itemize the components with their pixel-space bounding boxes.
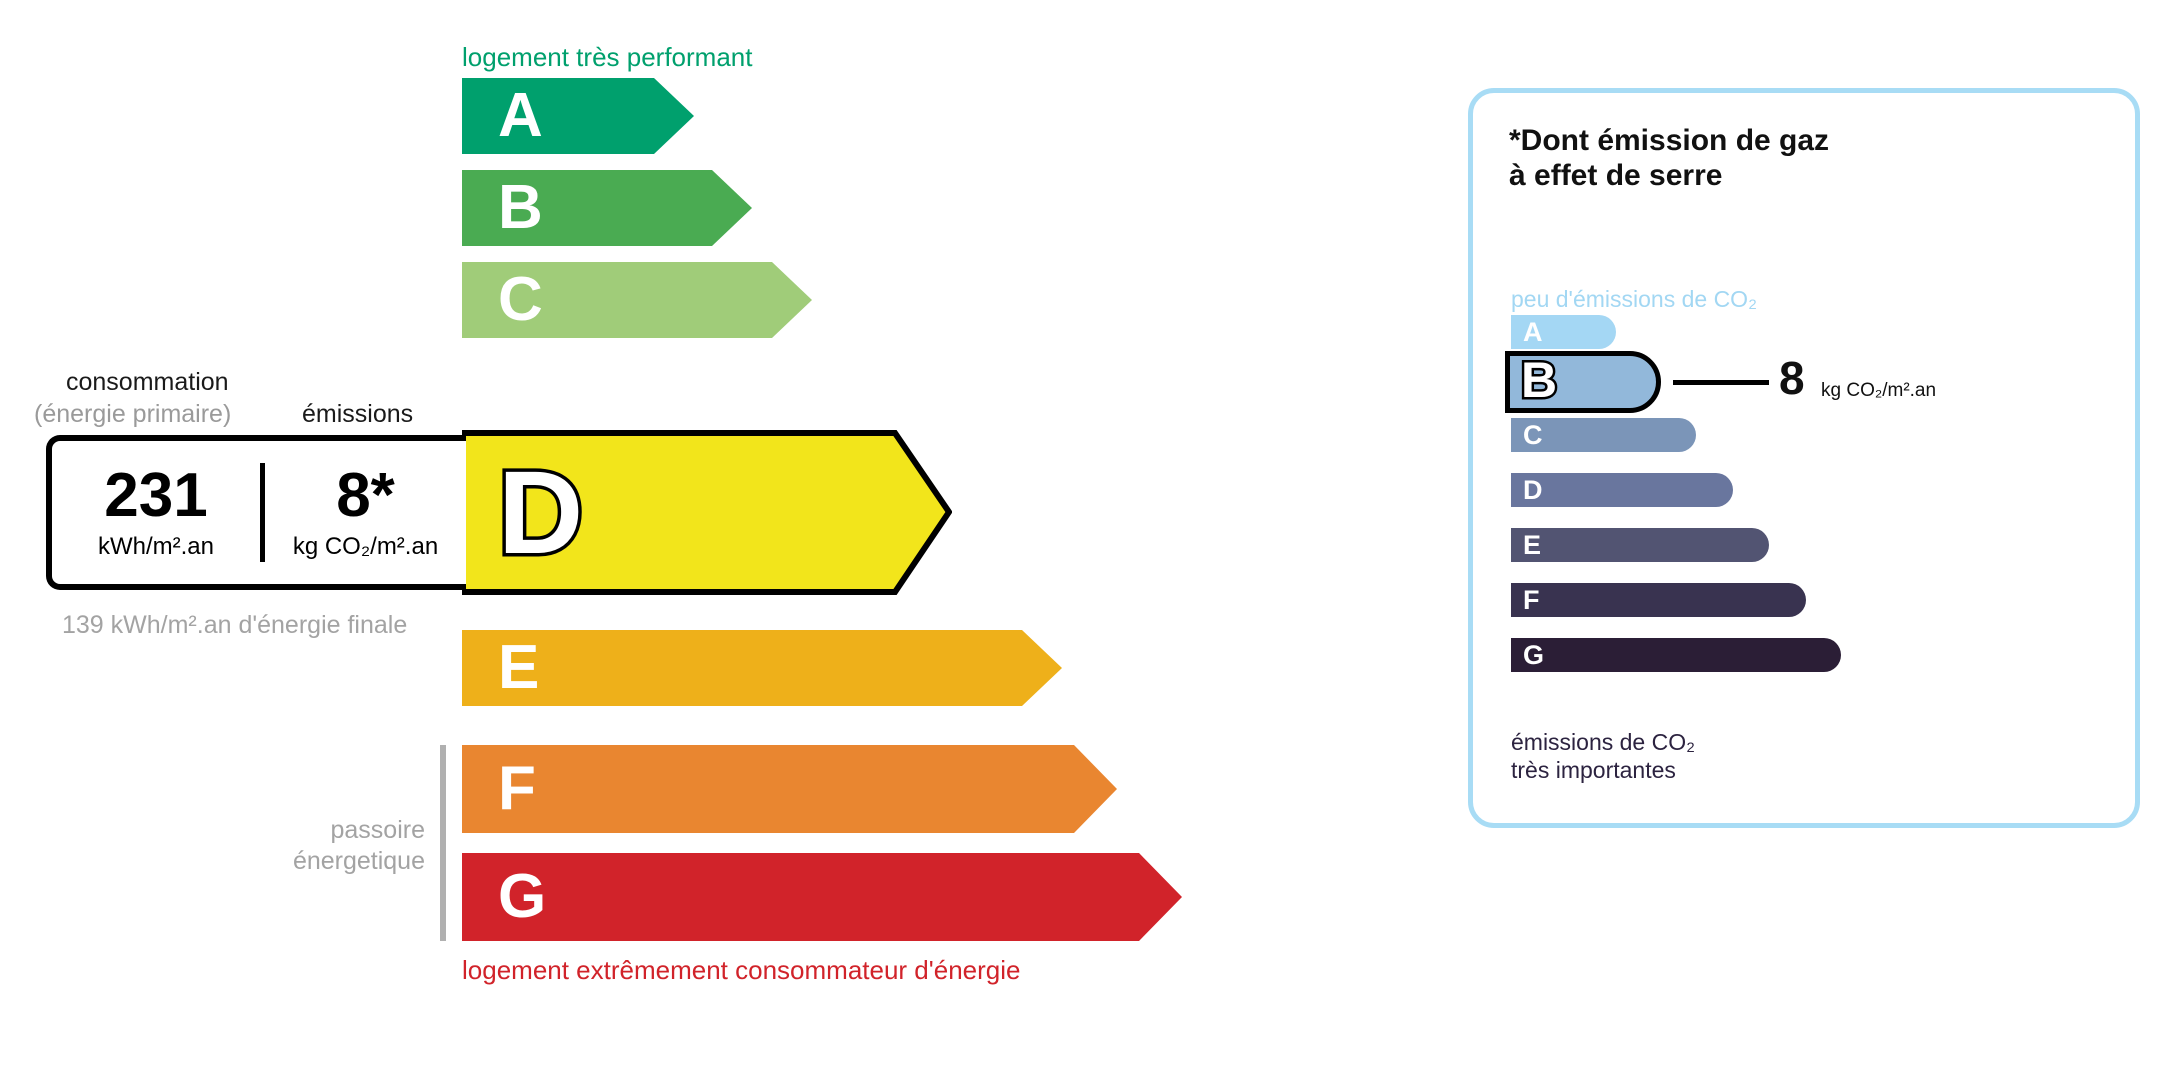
co2-band-d[interactable]: D: [1511, 473, 1733, 507]
passoire-energetique-label: passoire énergetique: [245, 815, 425, 876]
energy-band-d-selected[interactable]: D: [462, 430, 952, 595]
label-energie-primaire: (énergie primaire): [34, 400, 231, 429]
co2-band-f-letter: F: [1523, 587, 1540, 614]
co2-bottom-caption: émissions de CO₂ très importantes: [1511, 729, 1695, 784]
co2-callout-leader-line: [1673, 380, 1769, 385]
label-consommation: consommation: [66, 368, 229, 397]
energy-performance-scale: logement très performant A B C D E: [0, 0, 1400, 1079]
co2-band-g[interactable]: G: [1511, 638, 1841, 672]
energy-band-f-letter: F: [498, 758, 536, 820]
passoire-energetique-bracket: [440, 745, 446, 941]
co2-band-c[interactable]: C: [1511, 418, 1696, 452]
co2-band-b-selected[interactable]: B: [1505, 351, 1661, 413]
co2-band-e[interactable]: E: [1511, 528, 1769, 562]
energy-band-g-letter: G: [498, 866, 546, 928]
band-e-arrow-icon: [462, 630, 1062, 706]
band-f-arrow-icon: [462, 745, 1117, 833]
co2-emissions-panel: *Dont émission de gaz à effet de serre p…: [1468, 88, 2140, 828]
scale-top-caption: logement très performant: [462, 42, 752, 73]
co2-panel-title: *Dont émission de gaz à effet de serre: [1509, 123, 1829, 194]
energy-band-d-letter: D: [498, 454, 583, 572]
co2-callout-value: 8: [1779, 355, 1805, 401]
energy-band-a-letter: A: [498, 85, 543, 147]
energy-band-e[interactable]: E: [462, 630, 1062, 706]
emission-cell: 8* kg CO₂/m².an: [265, 441, 466, 584]
consumption-unit: kWh/m².an: [98, 533, 214, 561]
label-emissions: émissions: [302, 400, 413, 429]
co2-band-f[interactable]: F: [1511, 583, 1806, 617]
energy-band-a[interactable]: A: [462, 78, 694, 154]
co2-band-a-letter: A: [1523, 319, 1543, 346]
final-energy-note: 139 kWh/m².an d'énergie finale: [62, 610, 407, 641]
co2-band-b-letter: B: [1521, 355, 1557, 405]
value-box: 231 kWh/m².an 8* kg CO₂/m².an: [46, 435, 466, 590]
energy-band-b[interactable]: B: [462, 170, 752, 246]
energy-band-e-letter: E: [498, 637, 539, 699]
energy-band-c-letter: C: [498, 269, 543, 331]
energy-band-f[interactable]: F: [462, 745, 1117, 833]
co2-band-d-letter: D: [1523, 477, 1543, 504]
energy-band-g[interactable]: G: [462, 853, 1182, 941]
co2-band-c-letter: C: [1523, 422, 1543, 449]
band-g-arrow-icon: [462, 853, 1182, 941]
emission-value: 8*: [336, 465, 395, 527]
co2-band-e-letter: E: [1523, 532, 1541, 559]
co2-top-caption: peu d'émissions de CO₂: [1511, 286, 1757, 313]
co2-band-g-letter: G: [1523, 642, 1544, 669]
consumption-value: 231: [104, 465, 207, 527]
co2-callout-unit: kg CO₂/m².an: [1821, 381, 1936, 400]
scale-bottom-caption: logement extrêmement consommateur d'éner…: [462, 955, 1020, 986]
band-a-arrow-icon: [462, 78, 694, 154]
emission-unit: kg CO₂/m².an: [293, 533, 438, 561]
co2-band-a[interactable]: A: [1511, 315, 1616, 349]
consumption-cell: 231 kWh/m².an: [52, 441, 260, 584]
energy-band-b-letter: B: [498, 177, 543, 239]
energy-band-c[interactable]: C: [462, 262, 812, 338]
